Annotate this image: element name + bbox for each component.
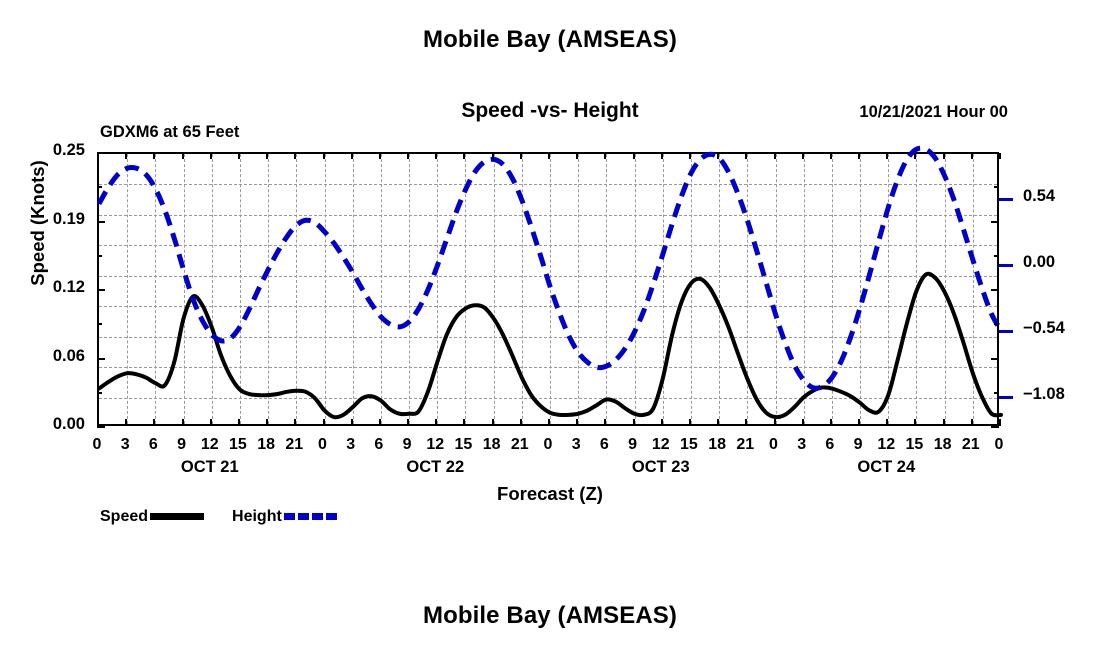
x-axis-day-label: OCT 23	[601, 458, 721, 477]
y-axis-left-label: 0.00	[15, 415, 85, 434]
y-axis-left-label: 0.06	[15, 347, 85, 366]
legend-label-height: Height	[232, 508, 282, 525]
axis-labels-layer: 0369121518210369121518210369121518210369…	[0, 0, 1100, 650]
y-axis-left-label: 0.12	[15, 278, 85, 297]
legend-item-height: Height	[232, 508, 338, 526]
y-axis-right-label: 0.54	[1023, 187, 1100, 206]
y-axis-right-label: 0.00	[1023, 253, 1100, 272]
y-axis-left-label: 0.25	[15, 141, 85, 160]
y-axis-left-label: 0.19	[15, 210, 85, 229]
x-axis-title: Forecast (Z)	[0, 483, 1100, 505]
y-axis-left-title: Speed (Knots)	[27, 113, 49, 333]
y-axis-right-label: −1.08	[1023, 385, 1100, 404]
x-axis-day-label: OCT 21	[150, 458, 270, 477]
footer-title: Mobile Bay (AMSEAS)	[0, 602, 1100, 630]
legend-swatch-height-icon	[284, 513, 338, 520]
x-axis-day-label: OCT 22	[375, 458, 495, 477]
legend-label-speed: Speed	[100, 508, 148, 525]
x-axis-day-label: OCT 24	[826, 458, 946, 477]
legend-swatch-speed-icon	[150, 513, 204, 520]
y-axis-right-label: −0.54	[1023, 319, 1100, 338]
x-axis-hour-label: 0	[979, 436, 1019, 454]
chart-legend: SpeedHeight	[100, 508, 338, 530]
legend-item-speed: Speed	[100, 508, 204, 526]
